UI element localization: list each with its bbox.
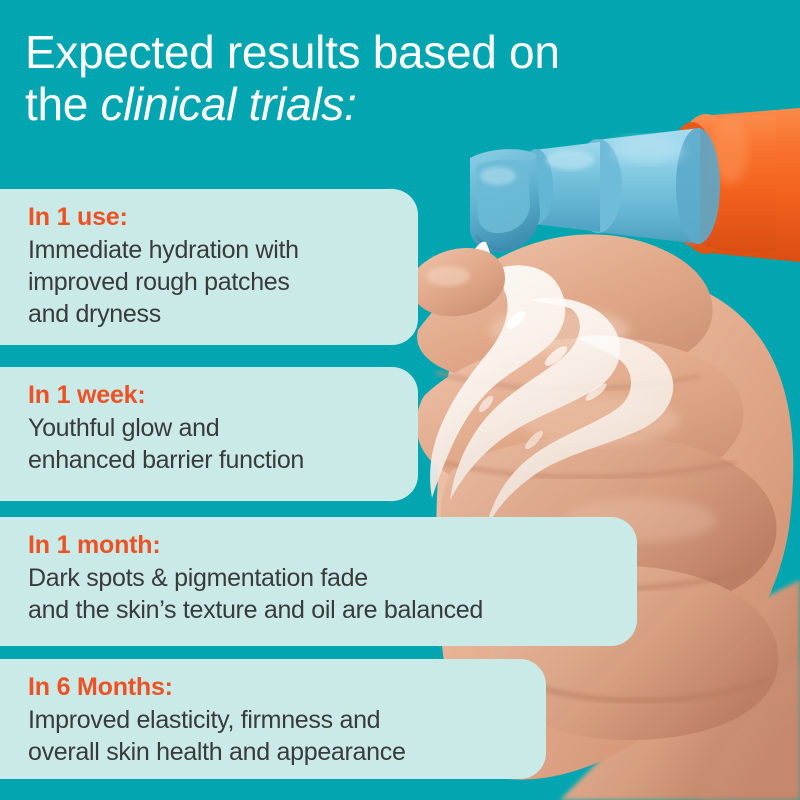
headline-line-2-italic: clinical trials: (101, 78, 357, 130)
result-card-2-title: In 1 week: (28, 379, 396, 411)
result-card-4-title: In 6 Months: (28, 671, 524, 703)
infographic-poster: Expected results based on the clinical t… (0, 0, 800, 800)
result-card-1-title: In 1 use: (28, 201, 396, 233)
page-title: Expected results based on the clinical t… (25, 26, 685, 130)
result-card-3-body: Dark spots & pigmentation fade and the s… (28, 562, 615, 626)
result-card-1-week: In 1 week: Youthful glow and enhanced ba… (0, 367, 418, 501)
result-card-1-month: In 1 month: Dark spots & pigmentation fa… (0, 517, 637, 646)
headline-line-1: Expected results based on (25, 26, 560, 78)
result-card-4-body: Improved elasticity, firmness and overal… (28, 704, 524, 768)
result-card-1-use: In 1 use: Immediate hydration with impro… (0, 189, 418, 345)
result-card-6-months: In 6 Months: Improved elasticity, firmne… (0, 659, 546, 779)
headline-line-2-regular: the (25, 78, 101, 130)
result-card-2-body: Youthful glow and enhanced barrier funct… (28, 412, 396, 476)
result-card-1-body: Immediate hydration with improved rough … (28, 234, 396, 330)
result-card-3-title: In 1 month: (28, 529, 615, 561)
